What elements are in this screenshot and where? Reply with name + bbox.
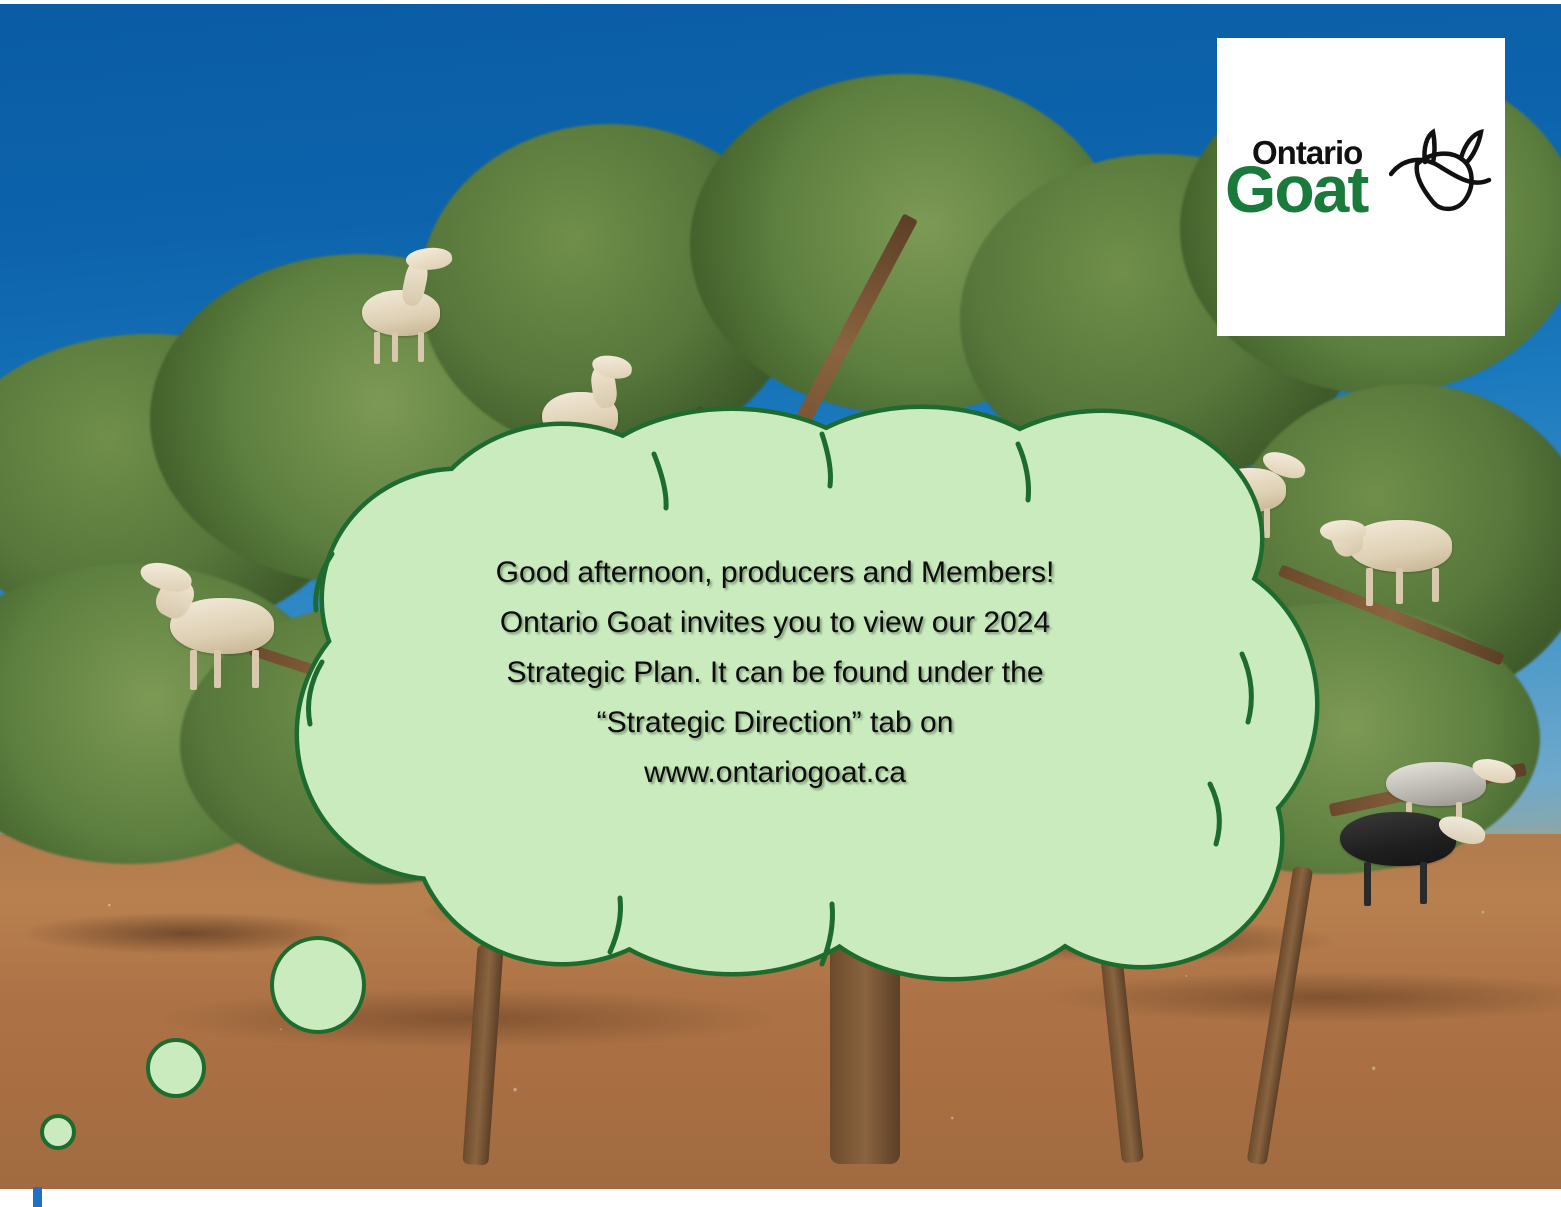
goat — [352, 248, 462, 368]
ontario-goat-logo-card: Ontario Goat — [1217, 38, 1505, 336]
bubble-line-1: Good afternoon, producers and Members! — [420, 548, 1130, 598]
logo-wordmark-goat: Goat — [1225, 156, 1367, 222]
slide-canvas: Ontario Goat — [0, 0, 1561, 1207]
thought-bubble-text: Good afternoon, producers and Members! O… — [420, 548, 1130, 798]
thought-bubble-tail-large — [270, 936, 366, 1034]
goat — [1326, 504, 1476, 624]
text-cursor-marker — [33, 1187, 42, 1207]
bubble-line-2: Ontario Goat invites you to view our 202… — [420, 598, 1130, 648]
goat-head-outline-icon — [1389, 128, 1493, 224]
bubble-line-3: Strategic Plan. It can be found under th… — [420, 648, 1130, 698]
thought-bubble-tail-medium — [146, 1038, 206, 1098]
top-white-margin — [0, 0, 1561, 4]
goat — [1334, 792, 1494, 922]
logo-lockup: Ontario Goat — [1217, 134, 1505, 244]
bubble-line-5-website: www.ontariogoat.ca — [420, 748, 1130, 798]
bottom-white-margin — [0, 1189, 1561, 1207]
bubble-line-4: “Strategic Direction” tab on — [420, 698, 1130, 748]
thought-bubble-tail-small — [40, 1114, 76, 1150]
